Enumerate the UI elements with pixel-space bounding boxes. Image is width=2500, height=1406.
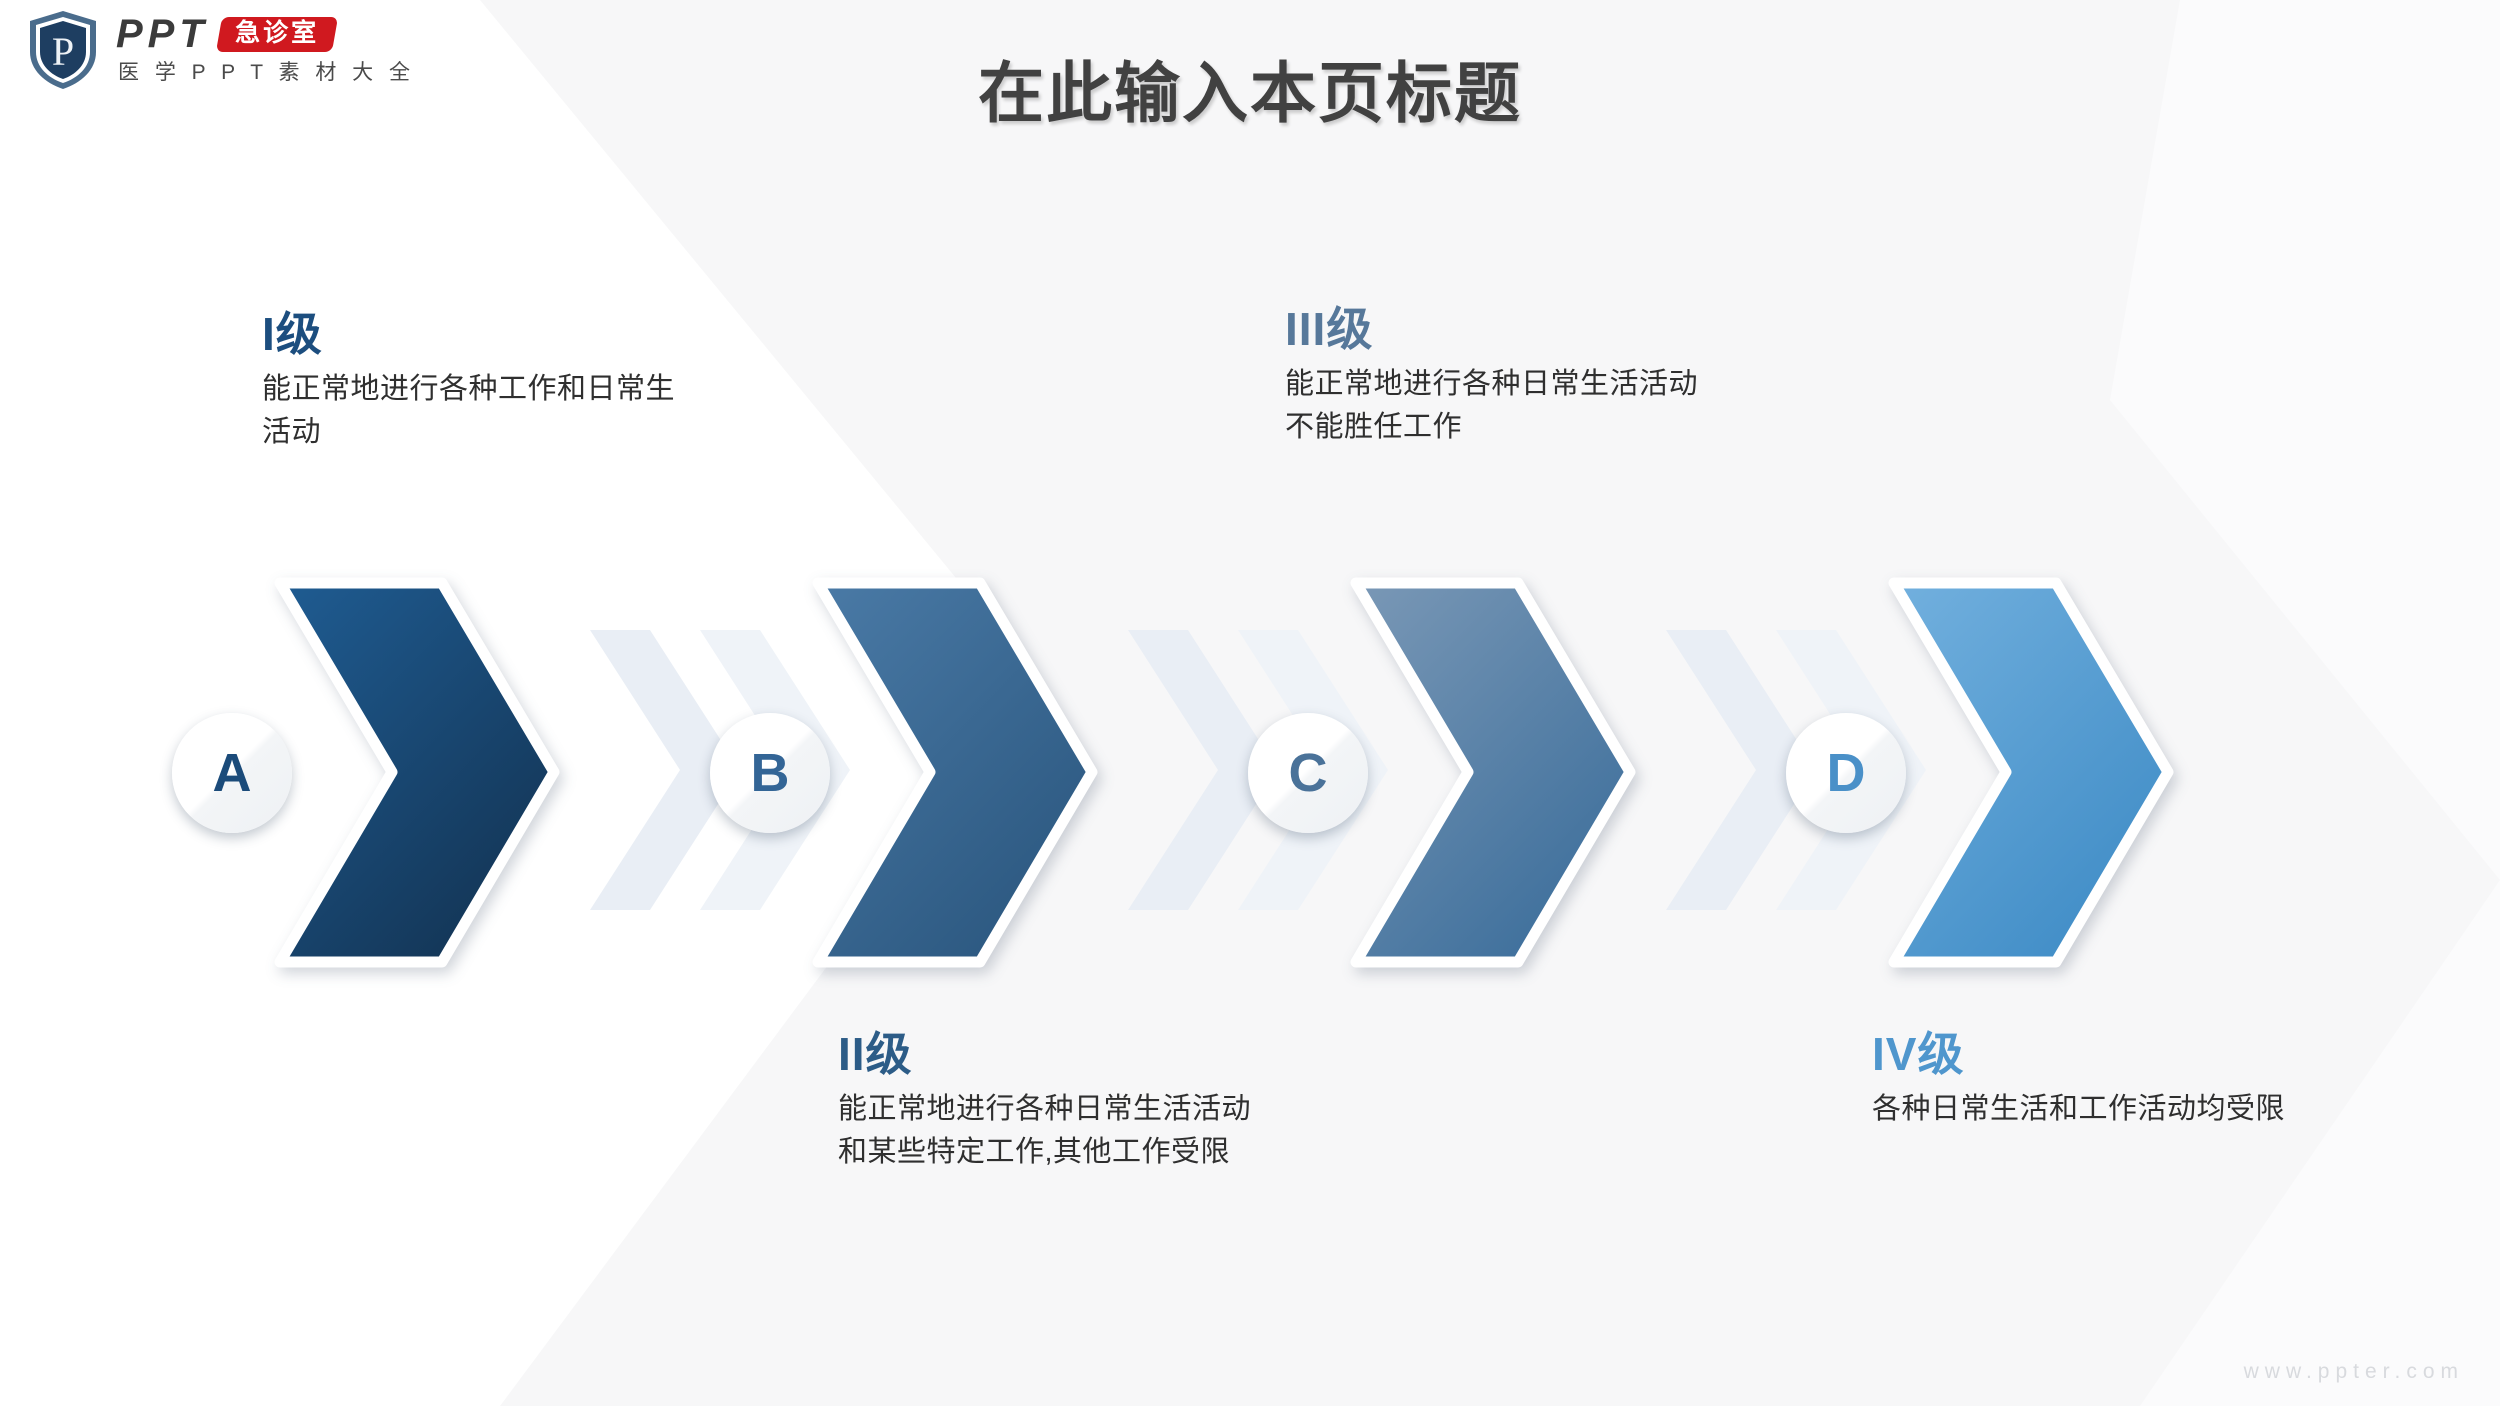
- slide-canvas: P PPT 急诊室 医 学 P P T 素 材 大 全 在此输入本页标题: [0, 0, 2500, 1406]
- step-desc-b: 能正常地进行各种日常生活活动 和某些特定工作,其他工作受限: [838, 1088, 1251, 1174]
- step-label-d: IV级 各种日常生活和工作活动均受限: [1872, 1030, 2285, 1131]
- step-label-a: I级 能正常地进行各种工作和日常生 活动: [262, 310, 675, 454]
- step-level-b: II级: [838, 1030, 1251, 1078]
- step-badge-letter-c: C: [1289, 746, 1328, 800]
- step-badge-letter-d: D: [1827, 746, 1866, 800]
- step-chevron-a[interactable]: A: [262, 575, 562, 970]
- step-badge-letter-a: A: [213, 746, 252, 800]
- step-desc-a: 能正常地进行各种工作和日常生 活动: [262, 368, 675, 454]
- step-chevron-d[interactable]: D: [1876, 575, 2176, 970]
- step-badge-letter-b: B: [751, 746, 790, 800]
- step-badge-d[interactable]: D: [1786, 713, 1906, 833]
- step-badge-c[interactable]: C: [1248, 713, 1368, 833]
- step-level-c: III级: [1285, 305, 1698, 353]
- step-chevron-c[interactable]: C: [1338, 575, 1638, 970]
- step-badge-a[interactable]: A: [172, 713, 292, 833]
- site-watermark: www.ppter.com: [2244, 1360, 2464, 1384]
- step-desc-c: 能正常地进行各种日常生活活动 不能胜任工作: [1285, 363, 1698, 449]
- step-label-b: II级 能正常地进行各种日常生活活动 和某些特定工作,其他工作受限: [838, 1030, 1251, 1174]
- step-chevron-b[interactable]: B: [800, 575, 1100, 970]
- step-level-a: I级: [262, 310, 675, 358]
- process-chevron-diagram: A B: [0, 0, 2500, 1406]
- step-badge-b[interactable]: B: [710, 713, 830, 833]
- step-level-d: IV级: [1872, 1030, 2285, 1078]
- step-label-c: III级 能正常地进行各种日常生活活动 不能胜任工作: [1285, 305, 1698, 449]
- step-desc-d: 各种日常生活和工作活动均受限: [1872, 1088, 2285, 1131]
